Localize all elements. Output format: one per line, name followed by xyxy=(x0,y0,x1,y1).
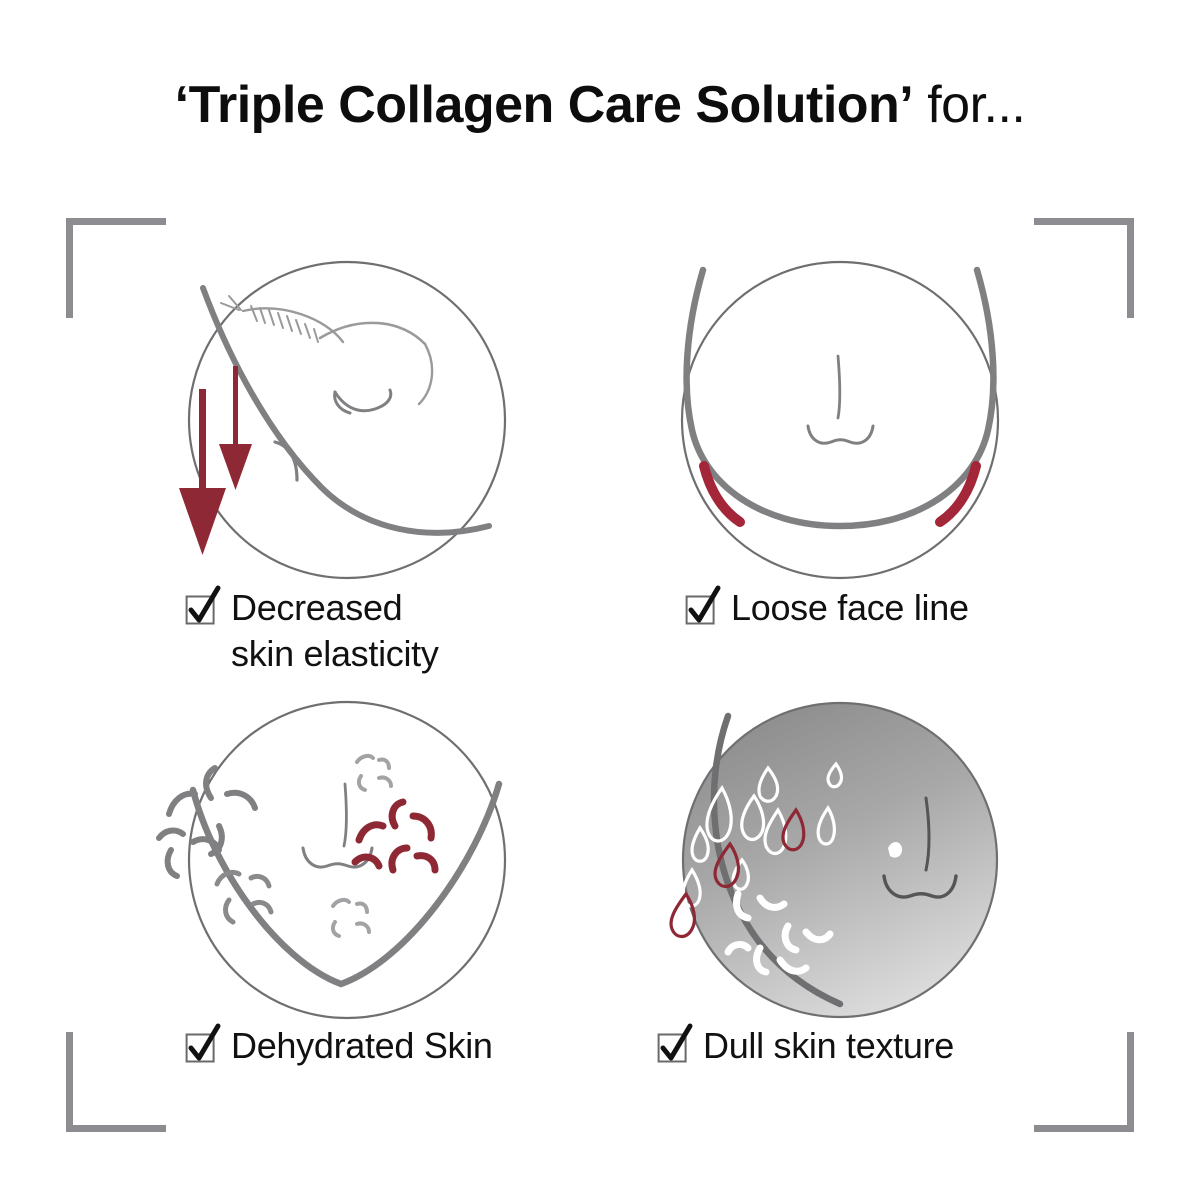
page-title-suffix: for... xyxy=(913,76,1025,134)
page-title-quoted: ‘Triple Collagen Care Solution’ xyxy=(175,76,914,134)
corner-bracket-bottom-right xyxy=(1034,1032,1134,1132)
checkbox-checked-icon[interactable] xyxy=(185,591,219,625)
concern-card-loose-face-line: Loose face line xyxy=(600,258,1080,583)
caption-loose-face-line: Loose face line xyxy=(685,585,969,631)
concern-label: Dehydrated Skin xyxy=(231,1023,493,1069)
concern-card-dehydrated-skin: Dehydrated Skin xyxy=(107,698,587,1023)
caption-decreased-skin-elasticity: Decreased skin elasticity xyxy=(185,585,439,677)
infographic-page: ‘Triple Collagen Care Solution’ for... xyxy=(0,0,1200,1200)
concern-label: Loose face line xyxy=(731,585,969,631)
checkbox-checked-icon[interactable] xyxy=(185,1029,219,1063)
concern-card-decreased-skin-elasticity: Decreased skin elasticity xyxy=(107,258,587,583)
concern-label: Dull skin texture xyxy=(703,1023,954,1069)
illustration-face-profile-sagging-arrows xyxy=(107,258,587,583)
illustration-face-dry-flakes xyxy=(107,698,587,1023)
corner-bracket-bottom-left xyxy=(66,1032,166,1132)
checkbox-checked-icon[interactable] xyxy=(685,591,719,625)
concern-card-dull-skin-texture: Dull skin texture xyxy=(600,698,1080,1023)
illustration-face-front-jawline xyxy=(600,258,1080,583)
page-title: ‘Triple Collagen Care Solution’ for... xyxy=(0,74,1200,136)
checkbox-checked-icon[interactable] xyxy=(657,1029,691,1063)
concern-label: Decreased skin elasticity xyxy=(231,585,439,677)
caption-dehydrated-skin: Dehydrated Skin xyxy=(185,1023,493,1069)
caption-dull-skin-texture: Dull skin texture xyxy=(657,1023,954,1069)
illustration-face-dull-gradient xyxy=(600,698,1080,1023)
